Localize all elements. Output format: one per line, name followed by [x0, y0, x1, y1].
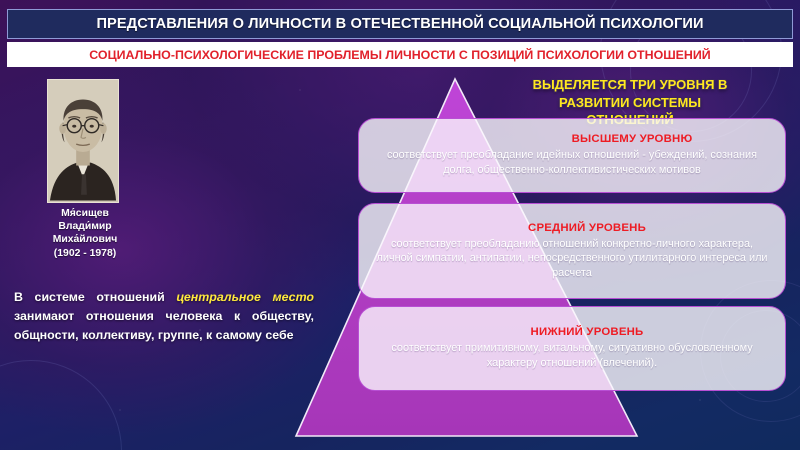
decorative-circle-5: [0, 360, 122, 450]
person-life-years: (1902 - 1978): [10, 247, 160, 260]
level-box-middle: СРЕДНИЙ УРОВЕНЬ соответствует преобладан…: [358, 203, 786, 299]
page-subtitle: СОЦИАЛЬНО-ПСИХОЛОГИЧЕСКИЕ ПРОБЛЕМЫ ЛИЧНО…: [89, 48, 710, 62]
level-label-high: ВЫСШЕМУ УРОВНЮ: [572, 133, 693, 145]
slide: ПРЕДСТАВЛЕНИЯ О ЛИЧНОСТИ В ОТЕЧЕСТВЕННОЙ…: [0, 0, 800, 450]
person-name-line-1: Мя́сищев: [10, 207, 160, 220]
level-box-low: НИЖНИЙ УРОВЕНЬ соответствует примитивном…: [358, 306, 786, 391]
level-label-low: НИЖНИЙ УРОВЕНЬ: [531, 326, 644, 338]
level-text-high: соответствует преобладание идейных отнош…: [373, 148, 771, 177]
slide-subtitle-bar: СОЦИАЛЬНО-ПСИХОЛОГИЧЕСКИЕ ПРОБЛЕМЫ ЛИЧНО…: [7, 42, 793, 67]
level-text-low: соответствует примитивному, витальному, …: [373, 341, 771, 370]
level-label-middle: СРЕДНИЙ УРОВЕНЬ: [528, 222, 646, 234]
level-box-high: ВЫСШЕМУ УРОВНЮ соответствует преобладани…: [358, 118, 786, 193]
person-name-line-3: Миха́йлович: [10, 233, 160, 246]
portrait-illustration: [48, 80, 118, 201]
level-text-middle: соответствует преобладанию отношений кон…: [373, 237, 771, 281]
portrait-photo: [47, 79, 119, 203]
pyramid-heading-line-1: ВЫДЕЛЯЕТСЯ ТРИ УРОВНЯ В: [480, 76, 780, 94]
page-title: ПРЕДСТАВЛЕНИЯ О ЛИЧНОСТИ В ОТЕЧЕСТВЕННОЙ…: [96, 16, 703, 32]
portrait-caption: Мя́сищев Влади́мир Миха́йлович (1902 - 1…: [10, 207, 160, 260]
slide-title-bar: ПРЕДСТАВЛЕНИЯ О ЛИЧНОСТИ В ОТЕЧЕСТВЕННОЙ…: [7, 9, 793, 39]
paragraph-part-1: В системе отношений: [14, 290, 176, 304]
pyramid-heading-line-2: РАЗВИТИИ СИСТЕМЫ: [480, 94, 780, 112]
paragraph-highlight: центральное место: [176, 290, 314, 304]
person-name-line-2: Влади́мир: [10, 220, 160, 233]
paragraph-part-2: занимают отношения человека к обществу, …: [14, 309, 314, 342]
left-paragraph: В системе отношений центральное место за…: [14, 288, 314, 345]
